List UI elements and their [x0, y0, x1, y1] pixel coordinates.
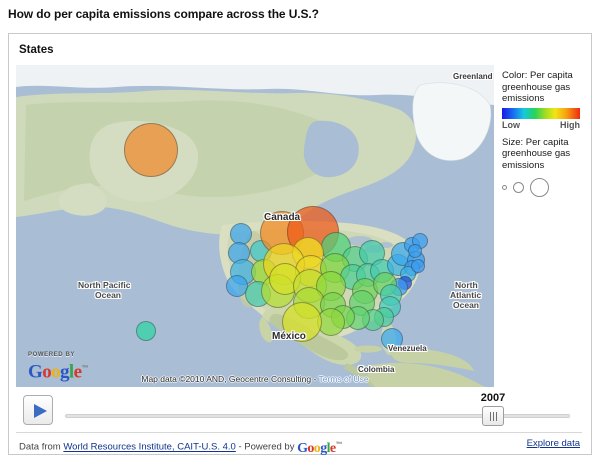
slider-grip-icon — [490, 412, 497, 421]
timeline-year-label: 2007 — [472, 392, 514, 404]
gadget-footer: Data from World Resources Institute, CAI… — [16, 432, 582, 452]
legend-size-heading: Size: Per capita greenhouse gas emission… — [502, 137, 588, 172]
powered-by-text: POWERED BY — [28, 352, 88, 359]
gradient-scale-labels: Low High — [502, 120, 580, 130]
map-bubble[interactable] — [136, 321, 156, 341]
map-bubble[interactable] — [282, 302, 322, 342]
play-button[interactable] — [23, 395, 53, 425]
powered-by-text-footer: - Powered by — [236, 442, 297, 453]
footer-attribution: Data from World Resources Institute, CAI… — [19, 438, 342, 456]
gradient-high-label: High — [560, 120, 580, 130]
size-circle-large-icon — [530, 178, 549, 197]
visualization-gadget: States — [8, 33, 592, 455]
map-bubble[interactable] — [411, 259, 425, 273]
terms-of-use-link[interactable]: Terms of Use — [319, 374, 369, 384]
data-from-text: Data from — [19, 442, 63, 453]
map-viewport[interactable]: GreenlandCanadaNorth PacificOceanNorthAt… — [16, 65, 494, 387]
google-logo-footer: Google™ — [297, 441, 342, 456]
explore-data-link[interactable]: Explore data — [527, 438, 580, 449]
map-legend: Color: Per capita greenhouse gas emissio… — [502, 70, 588, 198]
color-gradient-bar — [502, 108, 580, 119]
screenshot-root: How do per capita emissions compare acro… — [0, 0, 600, 463]
timeline-slider-thumb[interactable] — [482, 406, 504, 426]
size-circle-small-icon — [502, 185, 507, 190]
map-base-layer — [16, 65, 494, 387]
size-scale-legend — [502, 176, 588, 198]
map-attribution-text: Map data ©2010 AND, Geocentre Consulting… — [141, 374, 318, 384]
data-source-link[interactable]: World Resources Institute, CAIT-U.S. 4.0 — [63, 442, 235, 453]
timeline-control[interactable]: 2007 — [16, 394, 582, 430]
map-bubble[interactable] — [408, 244, 422, 258]
gadget-title: States — [19, 44, 54, 56]
map-bubble[interactable] — [124, 123, 178, 177]
legend-color-heading: Color: Per capita greenhouse gas emissio… — [502, 70, 588, 105]
play-icon — [34, 404, 47, 418]
gradient-low-label: Low — [502, 120, 520, 130]
page-title: How do per capita emissions compare acro… — [8, 7, 319, 21]
map-bubble[interactable] — [381, 328, 403, 350]
map-attribution: Map data ©2010 AND, Geocentre Consulting… — [16, 374, 494, 384]
size-circle-medium-icon — [513, 182, 524, 193]
